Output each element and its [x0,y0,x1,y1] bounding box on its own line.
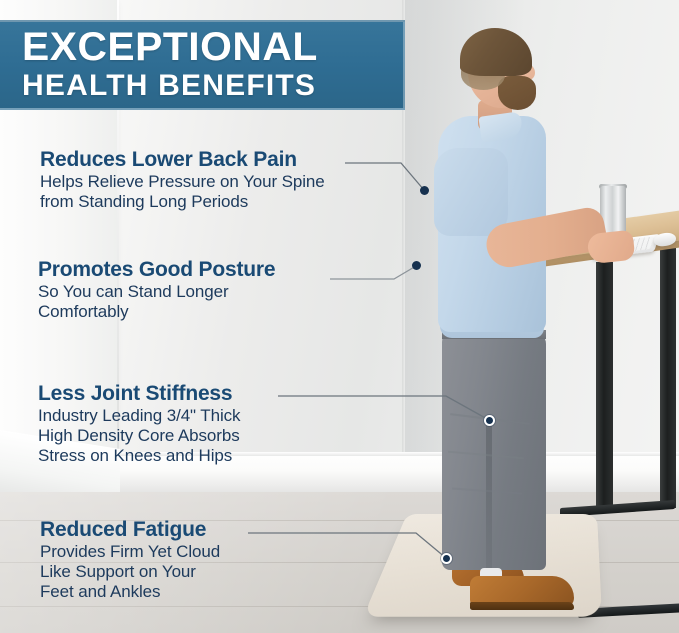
benefit-body-line: from Standing Long Periods [40,192,325,212]
benefit-title: Less Joint Stiffness [38,382,240,406]
benefit-body-line: Industry Leading 3/4" Thick [38,406,240,426]
benefit-body: Industry Leading 3/4" Thick High Density… [38,406,240,466]
infographic-root: EXCEPTIONAL HEALTH BENEFITS Reduces Lowe… [0,0,679,633]
leader-line-2 [278,396,489,420]
benefit-body: So You can Stand Longer Comfortably [38,282,275,322]
benefit-body-line: Stress on Knees and Hips [38,446,240,466]
leader-line-1 [330,266,416,279]
benefit-block-reduces-lower-back-pain: Reduces Lower Back Pain Helps Relieve Pr… [40,148,325,212]
callout-dot-mat [441,553,452,564]
benefit-body-line: Provides Firm Yet Cloud [40,542,220,562]
callout-dot-upper-back [412,261,421,270]
benefit-title: Reduced Fatigue [40,518,220,542]
benefit-body: Provides Firm Yet Cloud Like Support on … [40,542,220,602]
benefit-body: Helps Relieve Pressure on Your Spine fro… [40,172,325,212]
benefit-title: Reduces Lower Back Pain [40,148,325,172]
benefit-body-line: Feet and Ankles [40,582,220,602]
leader-line-0 [345,163,424,190]
callout-dot-lower-back [420,186,429,195]
benefit-block-reduced-fatigue: Reduced Fatigue Provides Firm Yet Cloud … [40,518,220,602]
leader-line-3 [248,533,446,558]
benefit-block-less-joint-stiffness: Less Joint Stiffness Industry Leading 3/… [38,382,240,466]
benefit-body-line: High Density Core Absorbs [38,426,240,446]
benefit-body-line: Helps Relieve Pressure on Your Spine [40,172,325,192]
benefit-block-promotes-good-posture: Promotes Good Posture So You can Stand L… [38,258,275,322]
benefit-body-line: So You can Stand Longer [38,282,275,302]
benefit-body-line: Like Support on Your [40,562,220,582]
benefit-body-line: Comfortably [38,302,275,322]
benefit-title: Promotes Good Posture [38,258,275,282]
callout-dot-knee [484,415,495,426]
